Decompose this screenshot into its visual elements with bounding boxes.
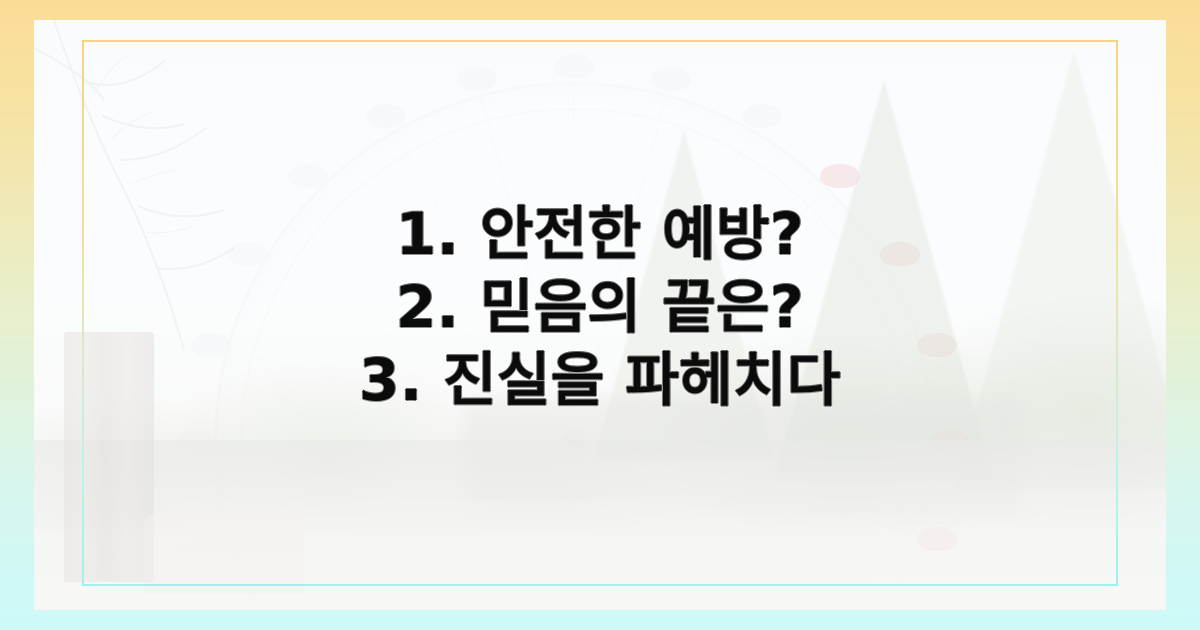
headline-line-3: 3. 진실을 파헤치다 — [0, 344, 1200, 417]
ferris-wheel-gondola — [457, 67, 497, 91]
headline: 1. 안전한 예방? 2. 믿음의 끝은? 3. 진실을 파헤치다 — [0, 198, 1200, 417]
thumbnail-card: 1. 안전한 예방? 2. 믿음의 끝은? 3. 진실을 파헤치다 — [0, 0, 1200, 630]
stone-wall — [144, 514, 304, 594]
ferris-wheel-gondola — [554, 54, 594, 78]
ferris-wheel-gondola — [366, 104, 406, 128]
headline-line-2: 2. 믿음의 끝은? — [0, 271, 1200, 344]
ferris-wheel-gondola — [651, 67, 691, 91]
headline-line-1: 1. 안전한 예방? — [0, 198, 1200, 271]
